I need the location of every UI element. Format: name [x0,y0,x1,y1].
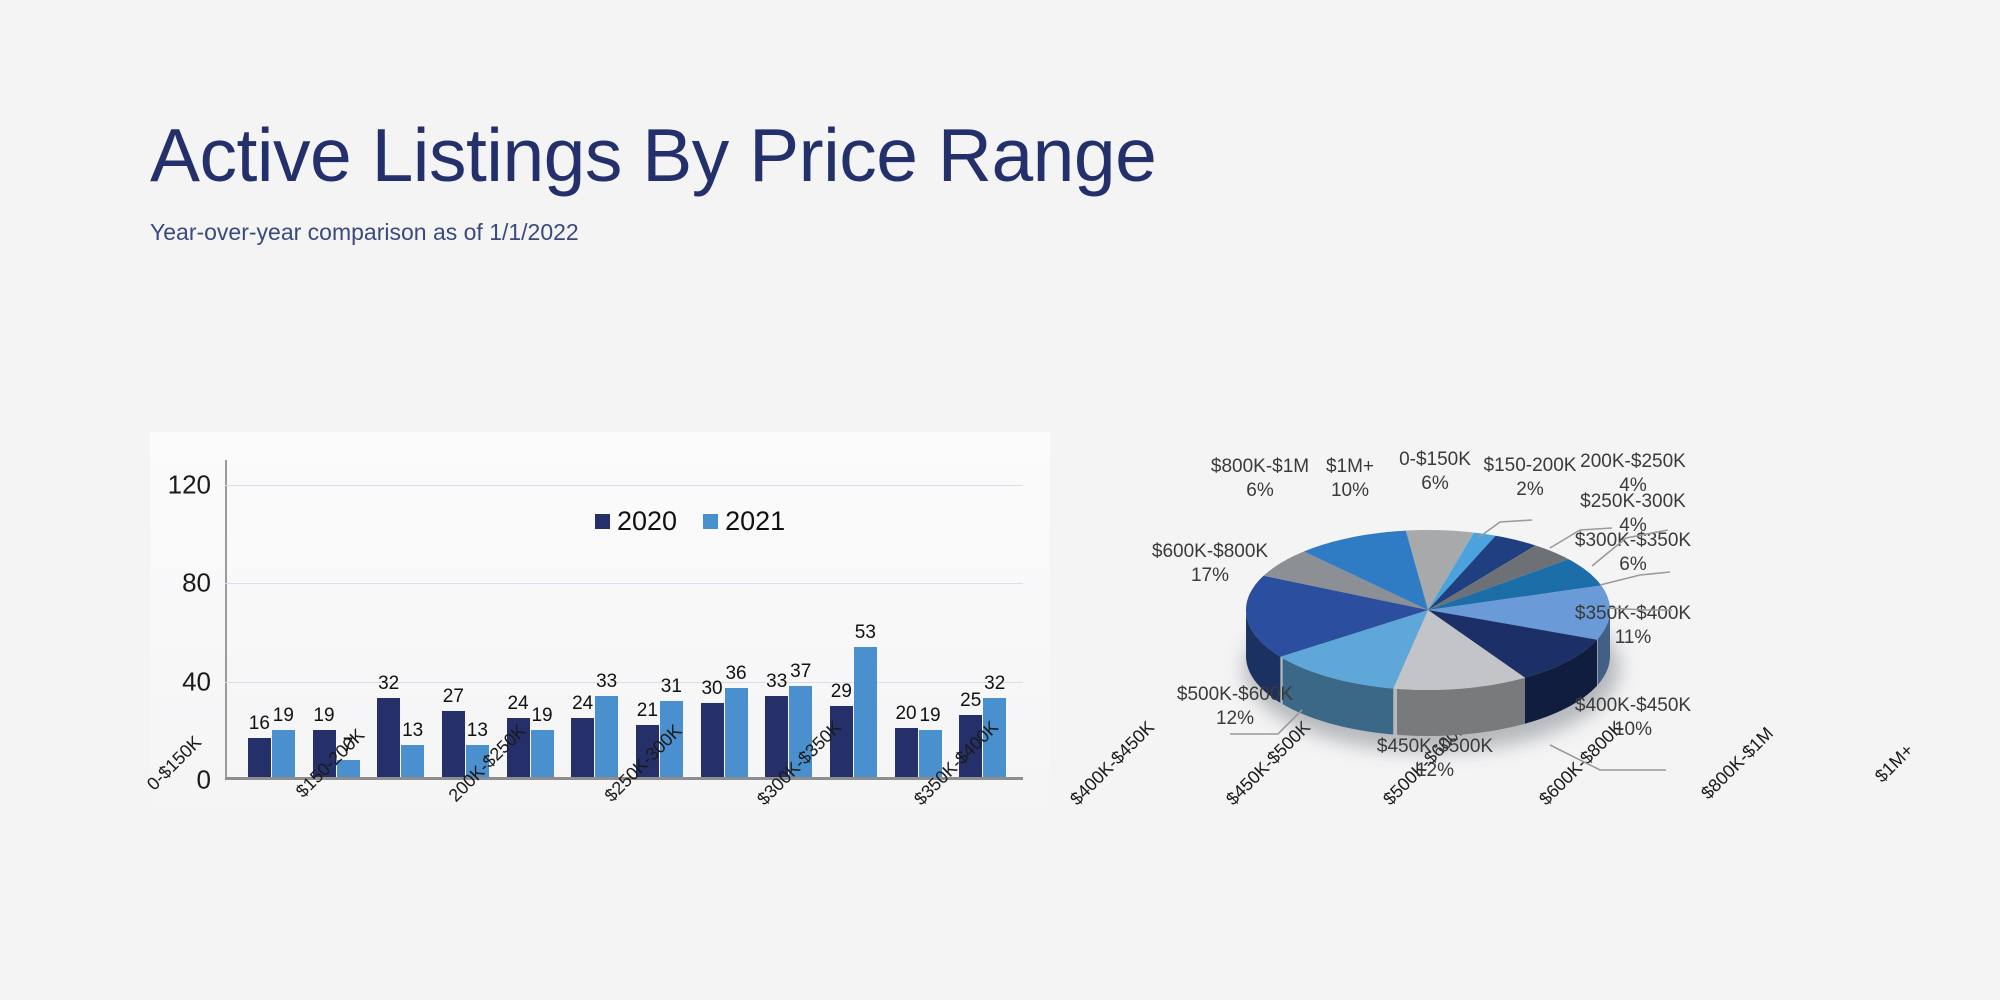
x-axis-label-cell: $350K-$400K [871,752,1027,852]
dashboard-header: Active Listings By Price Range Year-over… [150,118,1650,246]
pie-label-name: $350K-$400K [1575,603,1691,624]
x-axis-label-cell: $300K-$350K [714,752,870,852]
bar-chart-plot-area: 04080120 20202021 1619197321327132419243… [225,460,1015,780]
bar-value-label: 24 [507,693,528,715]
bar-2021[interactable]: 37 [789,460,812,777]
bar-value-label: 19 [919,705,940,727]
pie-chart-stage: $1M+10%0-$150K6%$150-200K2%200K-$250K4%$… [1080,430,1960,850]
pie-label-$400K-$450K: $400K-$450K10% [1575,694,1691,742]
bar-2021[interactable]: 13 [401,460,424,777]
bar-value-label: 27 [443,686,464,708]
pie-label-name: $300K-$350K [1575,530,1691,551]
bar-2021[interactable]: 53 [854,460,877,777]
pie-label-percent: 6% [1399,472,1471,496]
pie-label-name: $400K-$450K [1575,695,1691,716]
bar-group: 2019 [886,460,951,777]
bar-2021[interactable]: 19 [272,460,295,777]
x-axis-label-cell: 200K-$250K [402,752,558,852]
bar-value-label: 32 [378,673,399,695]
bar-value-label: 31 [661,676,682,698]
legend-item-2021[interactable]: 2021 [703,506,785,537]
pie-label-percent: 2% [1484,478,1577,502]
page-subtitle: Year-over-year comparison as of 1/1/2022 [150,219,1650,246]
bar-value-label: 13 [467,720,488,742]
pie-label-name: 0-$150K [1399,449,1471,470]
bar-2021[interactable]: 13 [466,460,489,777]
pie-label-name: $600K-$800K [1152,541,1268,562]
pie-label-name: $450K-$500K [1377,736,1493,757]
pie-label-name: $250K-300K [1580,491,1686,512]
pie-label-name: $150-200K [1484,455,1577,476]
bar-value-label: 21 [637,700,658,722]
pie-label-percent: 17% [1152,564,1268,588]
y-axis-line [225,460,227,780]
bar-value-label: 25 [960,690,981,712]
bar-chart-legend: 20202021 [595,506,785,537]
bar-value-label: 13 [402,720,423,742]
pie-label-$1M+: $1M+10% [1326,455,1374,503]
pie-label-$600K-$800K: $600K-$800K17% [1152,540,1268,588]
pie-label-$350K-$400K: $350K-$400K11% [1575,602,1691,650]
bar-2020[interactable]: 16 [248,460,271,777]
bar-value-label: 37 [790,661,811,683]
pie-label-$300K-$350K: $300K-$350K6% [1575,529,1691,577]
bar-value-label: 36 [725,663,746,685]
bar-value-label: 53 [855,622,876,644]
pie-label-percent: 11% [1575,626,1691,650]
pie-label-percent: 12% [1377,759,1493,783]
bar-2020[interactable]: 32 [377,460,400,777]
y-axis-tick-label: 120 [168,469,211,500]
bar-value-label: 16 [249,713,270,735]
legend-swatch-icon [703,514,718,529]
pie-label-name: $800K-$1M [1211,456,1309,477]
bar-2020[interactable]: 27 [442,460,465,777]
y-axis-tick-label: 40 [182,666,211,697]
pie-label-name: $1M+ [1326,456,1374,477]
pie-label-percent: 6% [1575,553,1691,577]
pie-label-percent: 10% [1575,718,1691,742]
legend-label: 2020 [617,506,677,537]
bar-value-label: 19 [313,705,334,727]
bar-group: 3213 [368,460,433,777]
bar-group: 2713 [433,460,498,777]
legend-swatch-icon [595,514,610,529]
pie-label-$450K-$500K: $450K-$500K12% [1377,735,1493,783]
x-axis-label-cell: 0-$150K [89,752,245,852]
pie-label-$800K-$1M: $800K-$1M6% [1211,455,1309,503]
bar-value-label: 33 [596,671,617,693]
pie-label-$150-200K: $150-200K2% [1484,454,1577,502]
x-axis-label-cell: $150-200K [245,752,401,852]
pie-label-$500K-$600K: $500K-$600K12% [1177,683,1293,731]
bar-value-label: 24 [572,693,593,715]
bar-2021[interactable]: 19 [919,460,942,777]
bar-group: 1619 [239,460,304,777]
bar-2020[interactable]: 20 [895,460,918,777]
pie-chart-panel: $1M+10%0-$150K6%$150-200K2%200K-$250K4%$… [1080,430,1960,850]
bar-value-label: 33 [766,671,787,693]
x-axis-label-cell: $250K-300K [558,752,714,852]
pie-label-percent: 10% [1326,479,1374,503]
bar-value-label: 32 [984,673,1005,695]
bar-value-label: 30 [701,678,722,700]
y-axis-tick-label: 80 [182,568,211,599]
pie-label-percent: 12% [1177,707,1293,731]
bar-value-label: 20 [895,703,916,725]
legend-item-2020[interactable]: 2020 [595,506,677,537]
legend-label: 2021 [725,506,785,537]
pie-label-name: $500K-$600K [1177,684,1293,705]
bar-value-label: 19 [273,705,294,727]
bar-value-label: 19 [531,705,552,727]
pie-label-name: 200K-$250K [1580,451,1686,472]
pie-label-percent: 6% [1211,479,1309,503]
pie-label-0-$150K: 0-$150K6% [1399,448,1471,496]
bar-2021[interactable]: 19 [531,460,554,777]
bar-2020[interactable]: 24 [571,460,594,777]
bar-2020[interactable]: 19 [313,460,336,777]
bar-value-label: 29 [831,681,852,703]
page-title: Active Listings By Price Range [150,118,1650,193]
